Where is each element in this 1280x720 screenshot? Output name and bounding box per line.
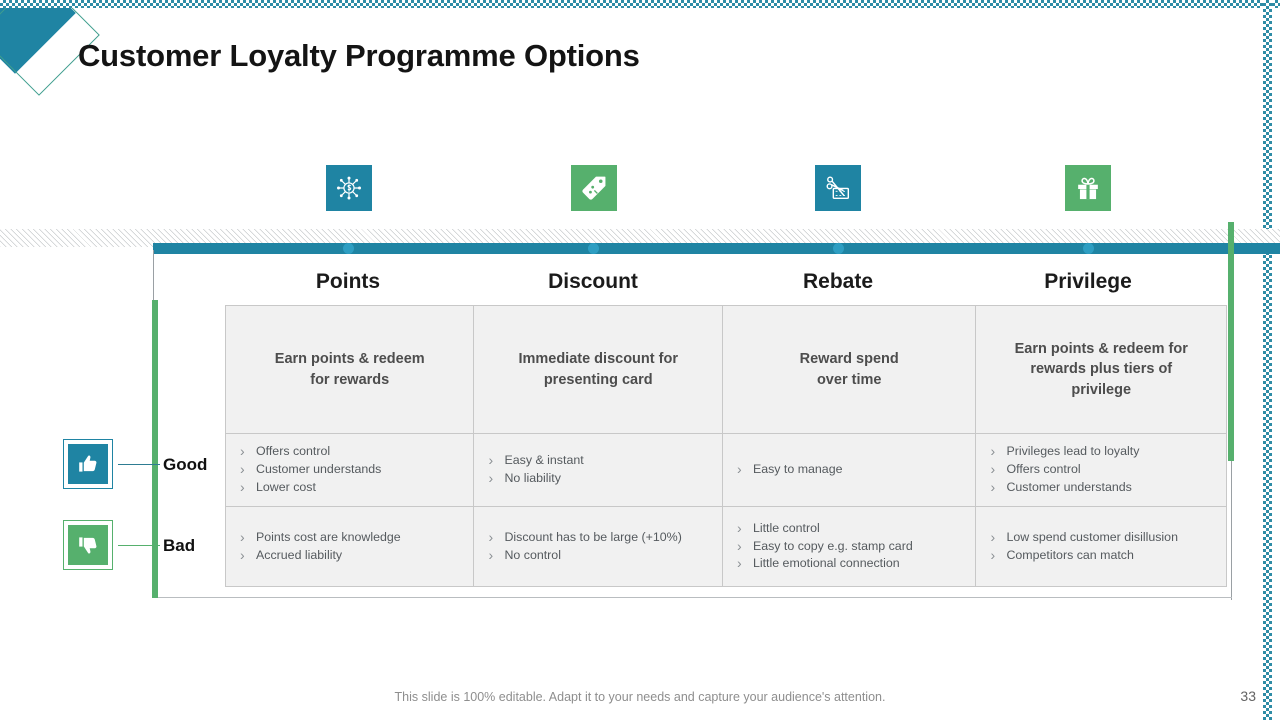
list-item: Low spend customer disillusion [984,529,1216,547]
page-number: 33 [1240,688,1256,704]
bad-list-points: Points cost are knowledgeAccrued liabili… [234,529,463,564]
good-list-discount: Easy & instantNo liability [482,452,711,487]
thumbs-up-icon [68,444,108,484]
footer-note: This slide is 100% editable. Adapt it to… [0,690,1280,704]
bad-list-privilege: Low spend customer disillusionCompetitor… [984,529,1216,564]
description-line: Reward spend [737,349,962,370]
list-item: Customer understands [984,479,1216,497]
column-title-discount: Discount [493,270,693,294]
description-cell-rebate: Reward spend over time [722,306,976,434]
bad-cell-privilege: Low spend customer disillusionCompetitor… [976,507,1227,587]
column-title-rebate: Rebate [738,270,938,294]
good-list-rebate: Easy to manage [731,461,966,479]
list-item: Little control [731,520,966,538]
gift-box-icon [1065,165,1111,211]
table-row-bad: Points cost are knowledgeAccrued liabili… [226,507,1227,587]
good-list-points: Offers controlCustomer understandsLower … [234,443,463,496]
coupon-scissors-icon [815,165,861,211]
table-row-description: Earn points & redeem for rewards Immedia… [226,306,1227,434]
list-item: Competitors can match [984,547,1216,565]
rule-dot-discount [588,243,599,254]
good-cell-discount: Easy & instantNo liability [474,434,722,507]
description-line: rewards plus tiers of [990,359,1212,380]
list-item: Easy & instant [482,452,711,470]
connector-bad [118,545,160,546]
frame-line-right [1231,455,1232,600]
frame-line-bottom [153,597,1232,598]
description-line: Earn points & redeem [240,349,459,370]
list-item: No liability [482,470,711,488]
good-cell-points: Offers controlCustomer understandsLower … [226,434,474,507]
description-line: Earn points & redeem for [990,339,1212,360]
teal-divider-rule [153,243,1280,254]
good-cell-privilege: Privileges lead to loyaltyOffers control… [976,434,1227,507]
column-title-privilege: Privilege [988,270,1188,294]
thumbs-down-icon [68,525,108,565]
description-cell-points: Earn points & redeem for rewards [226,306,474,434]
bad-cell-rebate: Little controlEasy to copy e.g. stamp ca… [722,507,976,587]
description-line: presenting card [488,370,707,391]
rule-dot-rebate [833,243,844,254]
description-line: over time [737,370,962,391]
list-item: Little emotional connection [731,555,966,573]
list-item: Offers control [984,461,1216,479]
bad-cell-discount: Discount has to be large (+10%)No contro… [474,507,722,587]
rule-dot-points [343,243,354,254]
description-line: privilege [990,380,1212,401]
description-cell-privilege: Earn points & redeem for rewards plus ti… [976,306,1227,434]
bad-list-rebate: Little controlEasy to copy e.g. stamp ca… [731,520,966,573]
green-accent-bar-left [152,300,158,598]
green-accent-bar-right [1228,222,1234,461]
list-item: Discount has to be large (+10%) [482,529,711,547]
rule-dot-privilege [1083,243,1094,254]
connector-good [118,464,160,465]
list-item: No control [482,547,711,565]
good-list-privilege: Privileges lead to loyaltyOffers control… [984,443,1216,496]
column-title-points: Points [248,270,448,294]
row-label-good: Good [163,455,207,475]
comparison-table: Earn points & redeem for rewards Immedia… [225,305,1227,587]
good-cell-rebate: Easy to manage [722,434,976,507]
price-tag-icon [571,165,617,211]
list-item: Easy to copy e.g. stamp card [731,538,966,556]
list-item: Points cost are knowledge [234,529,463,547]
row-label-bad: Bad [163,536,195,556]
description-line: Immediate discount for [488,349,707,370]
list-item: Accrued liability [234,547,463,565]
money-network-icon [326,165,372,211]
frame-line-left [153,250,154,300]
top-edge-pattern [0,0,1280,8]
description-cell-discount: Immediate discount for presenting card [474,306,722,434]
description-line: for rewards [240,370,459,391]
list-item: Easy to manage [731,461,966,479]
list-item: Lower cost [234,479,463,497]
right-edge-pattern [1263,0,1272,720]
table-row-good: Offers controlCustomer understandsLower … [226,434,1227,507]
list-item: Customer understands [234,461,463,479]
bad-list-discount: Discount has to be large (+10%)No contro… [482,529,711,564]
page-title: Customer Loyalty Programme Options [78,38,640,74]
bad-cell-points: Points cost are knowledgeAccrued liabili… [226,507,474,587]
list-item: Offers control [234,443,463,461]
list-item: Privileges lead to loyalty [984,443,1216,461]
